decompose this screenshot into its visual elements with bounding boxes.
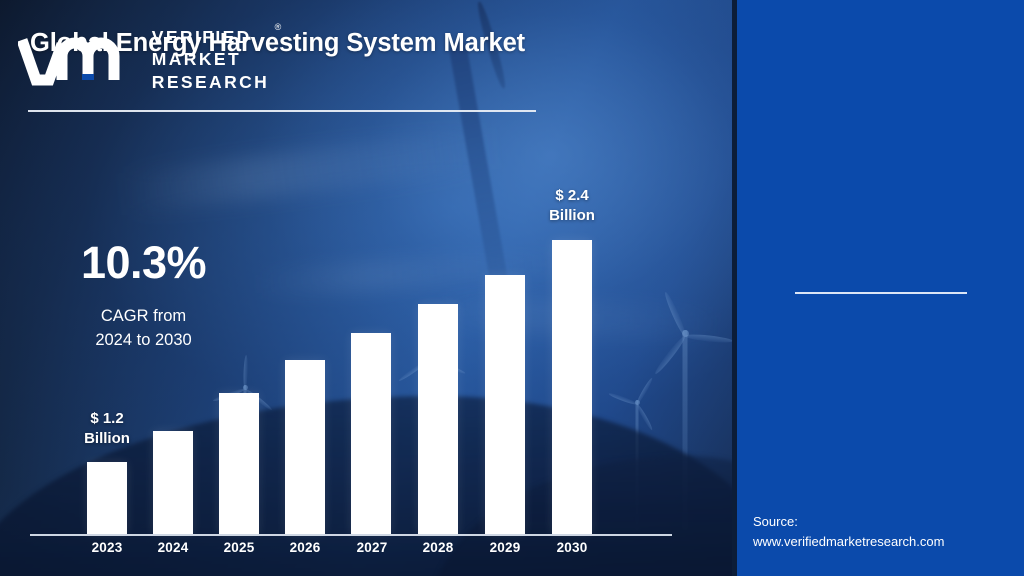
bar-2026 (285, 360, 325, 534)
bar-2025 (219, 393, 259, 534)
x-tick-2026: 2026 (276, 540, 334, 555)
cagr-caption-line2: 2024 to 2030 (0, 329, 287, 353)
x-tick-2025: 2025 (210, 540, 268, 555)
cagr-divider (795, 292, 967, 294)
bar-2027 (351, 333, 391, 534)
source-label: Source: (753, 512, 1019, 532)
brand-logo: VERIFIED MARKET RESEARCH ® (0, 26, 287, 93)
x-tick-2029: 2029 (476, 540, 534, 555)
cagr-caption-line1: CAGR from (0, 305, 287, 329)
bar-value-label-2023-line1: $ 1.2 (52, 409, 162, 429)
infographic-canvas: Global Energy Harvesting System Market 2… (0, 0, 1024, 576)
x-tick-2028: 2028 (409, 540, 467, 555)
bar-2029 (485, 275, 525, 534)
x-tick-2030: 2030 (543, 540, 601, 555)
vmr-logo-icon (18, 34, 140, 86)
brand-wordmark: VERIFIED MARKET RESEARCH ® (152, 26, 269, 93)
bar-value-label-2030-line1: $ 2.4 (517, 186, 627, 206)
x-tick-2024: 2024 (144, 540, 202, 555)
x-tick-2027: 2027 (343, 540, 401, 555)
bar-value-label-2023-line2: Billion (52, 429, 162, 449)
source-attribution: Source: www.verifiedmarketresearch.com (753, 512, 1019, 551)
brand-line-3: RESEARCH (152, 71, 269, 93)
registered-trademark-icon: ® (275, 22, 282, 34)
bar-2030 (552, 240, 592, 534)
source-url[interactable]: www.verifiedmarketresearch.com (753, 532, 1019, 552)
brand-line-2: MARKET (152, 48, 269, 70)
bar-value-label-2023: $ 1.2 Billion (52, 409, 162, 449)
x-tick-2023: 2023 (78, 540, 136, 555)
brand-panel (737, 0, 1024, 576)
x-axis-line (30, 534, 672, 536)
bar-2028 (418, 304, 458, 534)
brand-line-1: VERIFIED (152, 26, 269, 48)
bar-2023 (87, 462, 127, 534)
bar-value-label-2030: $ 2.4 Billion (517, 186, 627, 226)
cagr-caption: CAGR from 2024 to 2030 (0, 305, 287, 353)
cagr-value: 10.3% (0, 237, 287, 289)
bar-value-label-2030-line2: Billion (517, 206, 627, 226)
